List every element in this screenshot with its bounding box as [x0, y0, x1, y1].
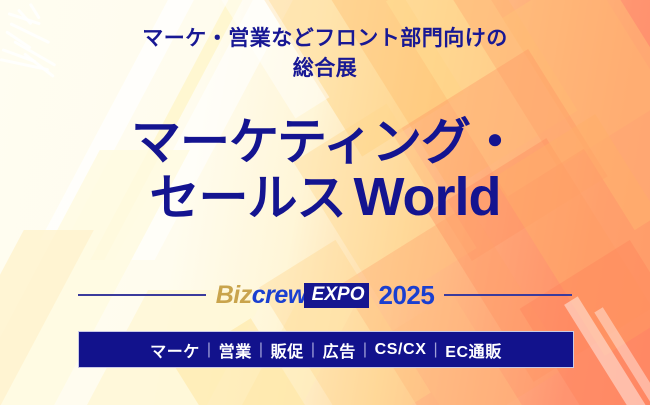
category-item[interactable]: EC通販 — [445, 338, 502, 362]
category-separator: | — [433, 341, 438, 359]
title-line-1: マーケティング・ — [0, 118, 650, 166]
category-item[interactable]: CS/CX — [375, 341, 427, 359]
event-banner: マーケ・営業などフロント部門向けの 総合展 マーケティング・ セールスWorld… — [0, 0, 650, 405]
logo-year: 2025 — [378, 280, 434, 311]
category-separator: | — [259, 341, 264, 359]
category-item[interactable]: 広告 — [323, 338, 356, 362]
subheadline-line-2: 総合展 — [0, 54, 650, 84]
sunburst-ray — [17, 8, 33, 25]
subheadline: マーケ・営業などフロント部門向けの 総合展 — [0, 24, 650, 85]
bg-shard — [564, 296, 650, 405]
bizcrew-expo-logo: BizcrewEXPO2025 — [216, 280, 435, 311]
category-item[interactable]: 販促 — [271, 338, 304, 362]
category-list: マーケ|営業|販促|広告|CS/CX|EC通販 — [150, 338, 502, 362]
title-world: World — [346, 167, 501, 227]
category-item[interactable]: 営業 — [219, 338, 252, 362]
logo-expo-badge: EXPO — [304, 283, 370, 308]
category-separator: | — [363, 341, 368, 359]
rule-right — [444, 294, 572, 296]
sunburst-ray — [29, 3, 41, 20]
category-separator: | — [311, 341, 316, 359]
logo-biz-text: Biz — [216, 281, 252, 310]
bg-shard — [259, 240, 431, 405]
logo-crew-text: crew — [252, 281, 307, 310]
logo-row: BizcrewEXPO2025 — [78, 280, 572, 310]
page-title: マーケティング・ セールスWorld — [0, 118, 650, 224]
category-separator: | — [207, 341, 212, 359]
category-bar: マーケ|営業|販促|広告|CS/CX|EC通販 — [78, 331, 574, 368]
title-line-2-jp: セールス — [150, 170, 346, 226]
subheadline-line-1: マーケ・営業などフロント部門向けの — [142, 27, 508, 50]
bg-shard — [594, 307, 650, 405]
rule-left — [78, 294, 206, 296]
category-item[interactable]: マーケ — [150, 338, 200, 362]
title-line-2: セールスWorld — [0, 172, 650, 224]
bg-streak — [0, 230, 94, 405]
bg-shard — [520, 240, 650, 405]
